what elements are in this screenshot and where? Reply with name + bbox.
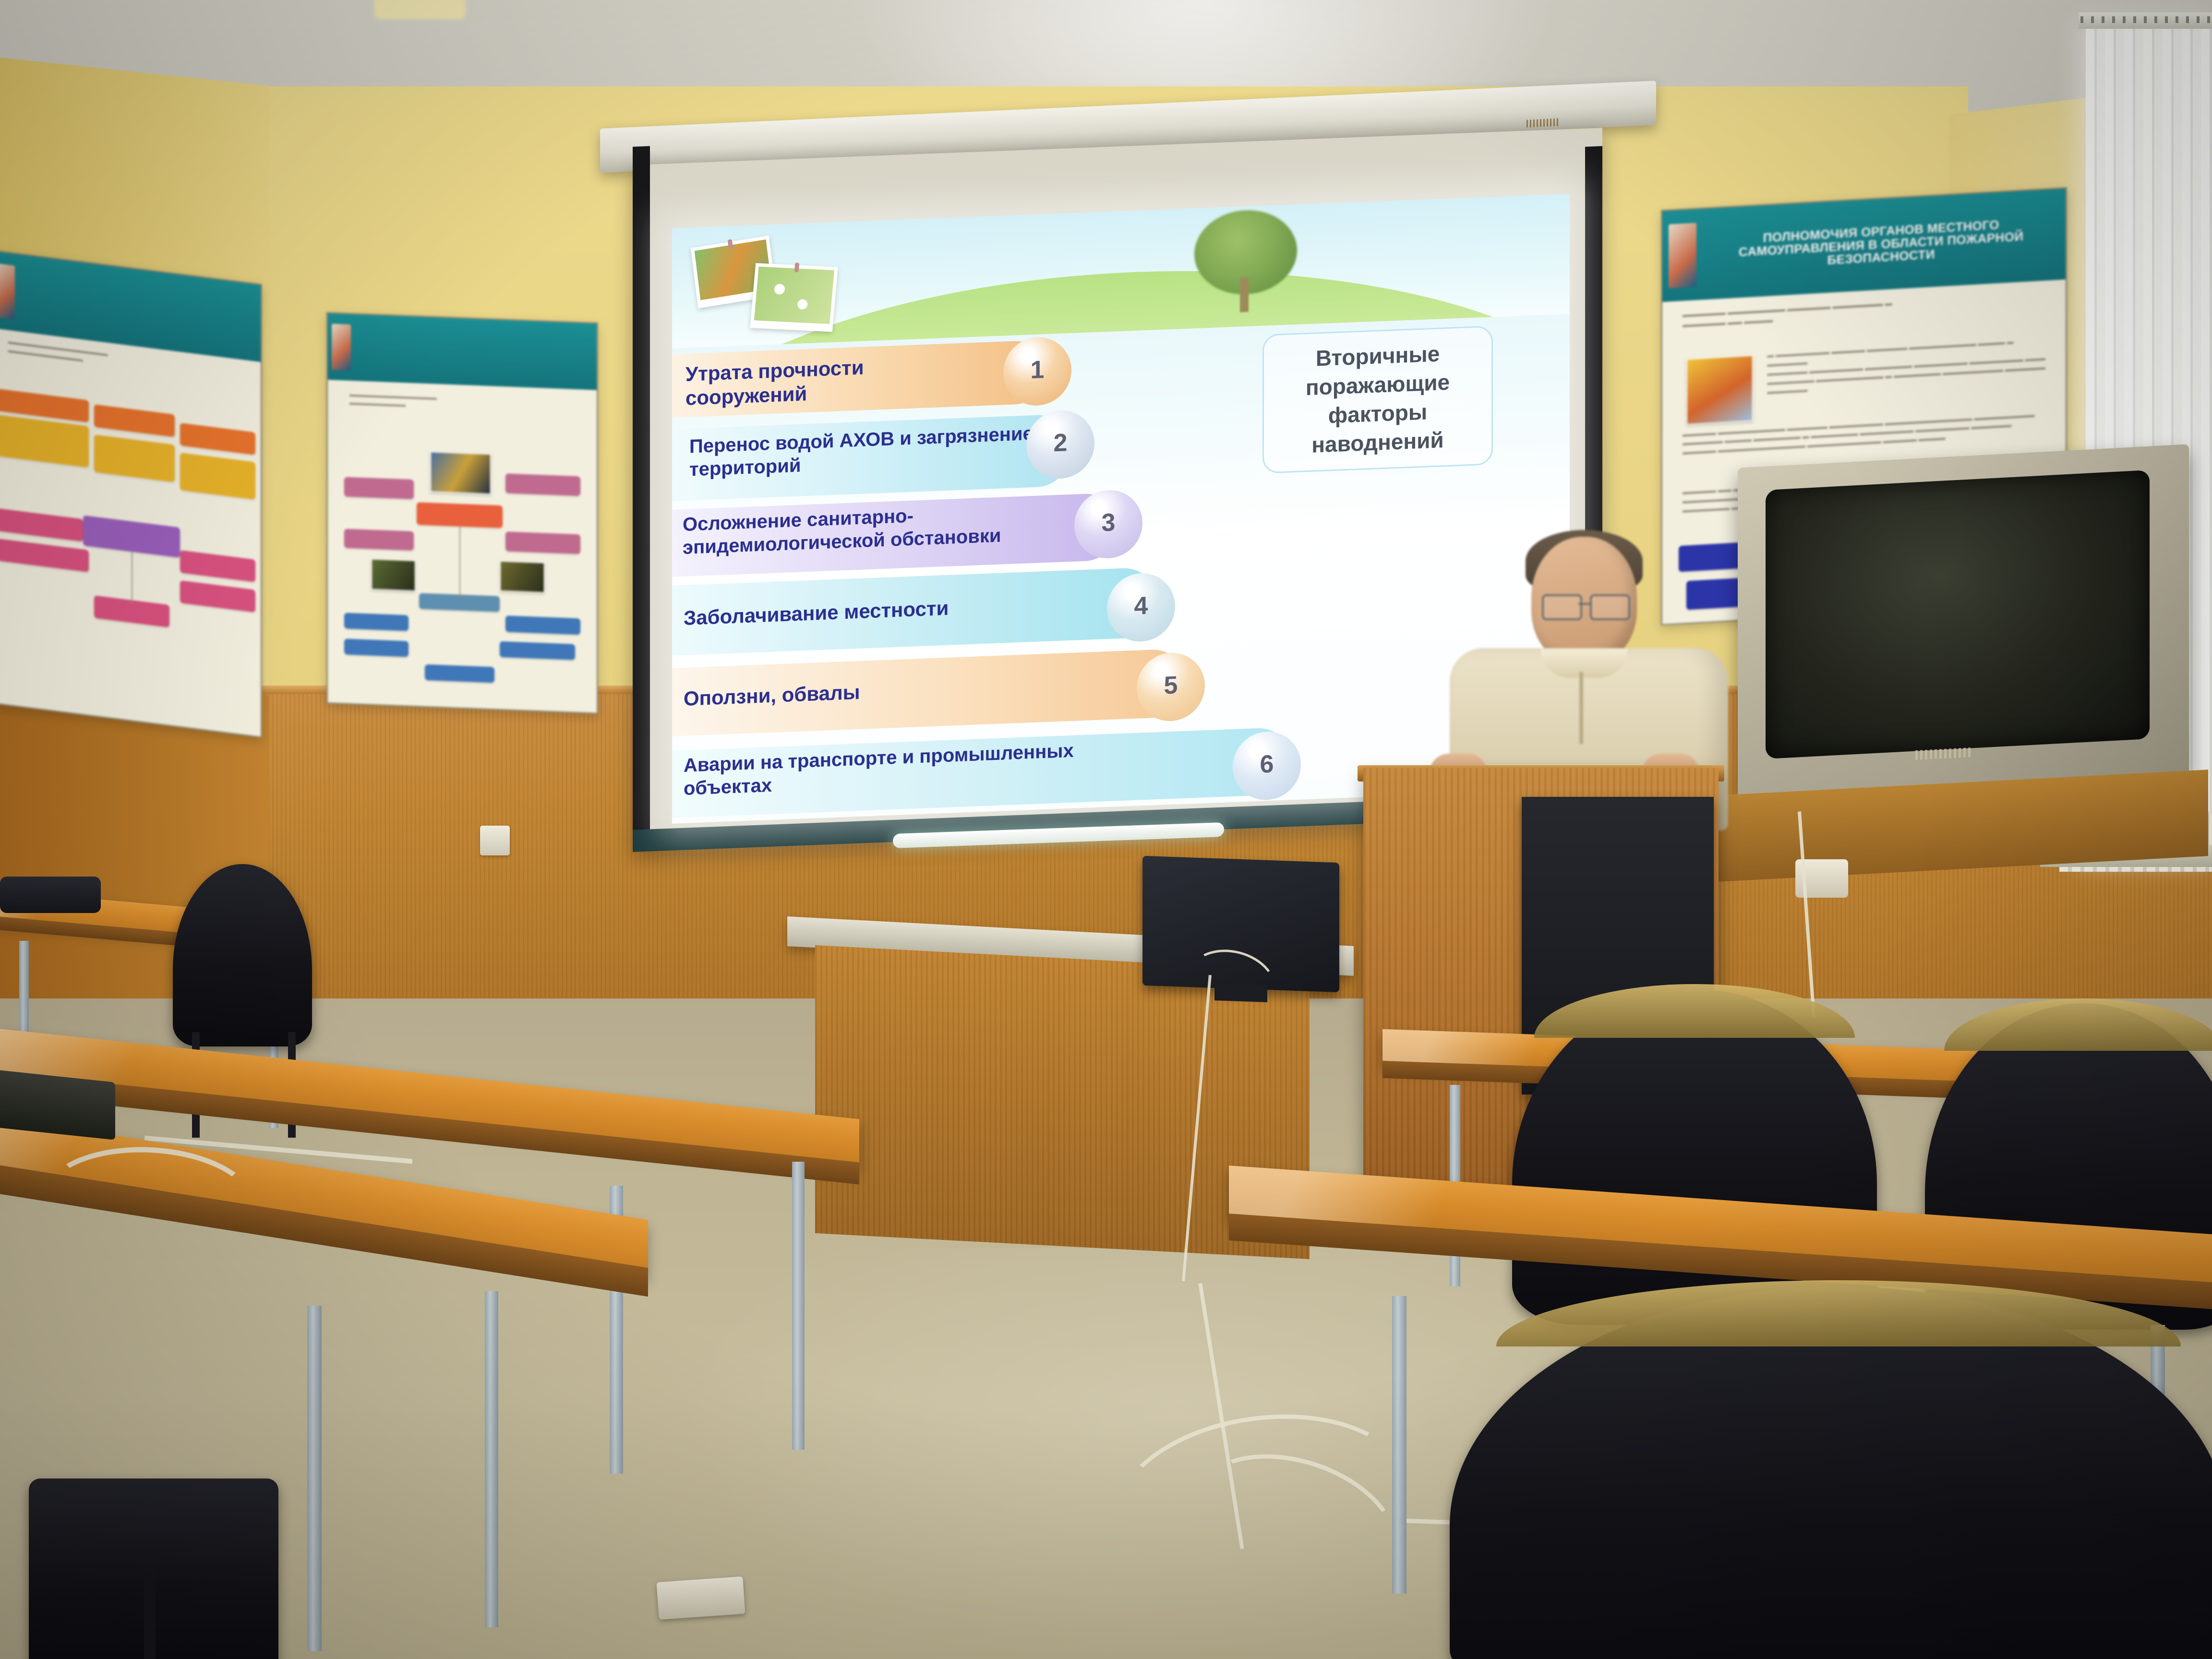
poster-left-box <box>180 550 255 582</box>
poster-mid-box <box>505 474 581 496</box>
desk-leg <box>1392 1296 1407 1594</box>
desk-leg <box>307 1306 322 1651</box>
poster-mid-box <box>425 664 495 683</box>
poster-mid-box <box>344 477 414 499</box>
poster-left-box <box>180 423 255 455</box>
poster-mid-banner <box>328 313 597 390</box>
chair[interactable] <box>1450 1286 2212 1659</box>
slide-number: 5 <box>1164 671 1178 700</box>
pushpin-icon <box>728 239 733 249</box>
desk-leg <box>792 1162 805 1450</box>
poster-right-photo <box>1686 355 1753 425</box>
poster-mid-title <box>351 348 597 357</box>
poster-mid-photo <box>430 451 491 494</box>
poster-right-paragraph: ▬ ▬▬▬▬▬▬▬▬ ▬▬▬▬▬ ▬▬▬▬▬▬ ▬▬▬▬▬▬▬▬▬▬ ▬▬▬▬ … <box>1767 335 2049 396</box>
poster-left-box <box>94 405 175 437</box>
blinds-rail-hooks <box>2080 16 2212 23</box>
poster-mid-box <box>417 503 503 529</box>
chair-gold-trim <box>1534 984 1855 1038</box>
wall-poster-middle: ▬▬▬▬▬▬▬▬▬▬▬▬▬▬▬▬▬▬▬▬▬▬▬ <box>326 312 598 714</box>
poster-mid-connector <box>459 527 460 598</box>
tree-icon <box>1190 208 1301 313</box>
chair-gold-trim <box>1944 998 2212 1051</box>
tv-screen <box>1766 470 2150 759</box>
classroom-photo: ▬▬▬▬▬▬▬▬▬▬▬▬▬▬▬▬▬▬▬▬▬▬▬▬▬▬▬▬ ▬▬▬▬▬▬▬▬▬▬▬… <box>0 0 2212 1659</box>
poster-right-title: ПОЛНОМОЧИЯ ОРГАНОВ МЕСТНОГО САМОУПРАВЛЕН… <box>1696 215 2066 275</box>
poster-mid-box <box>505 615 581 635</box>
wall-poster-left: ▬▬▬▬▬▬▬▬▬▬▬▬▬▬▬▬▬▬▬▬▬▬▬▬▬▬▬▬ <box>0 250 262 738</box>
photo-thumbnail <box>750 263 838 332</box>
screen-edge-left <box>633 146 650 833</box>
photo-thumbnail-image <box>754 266 834 324</box>
screen-housing-label <box>1527 118 1560 127</box>
eyeglasses-icon <box>1542 594 1582 620</box>
poster-right-emblem-icon <box>1669 223 1697 289</box>
slide-title-box: Вторичные поражающие факторы наводнений <box>1262 325 1493 473</box>
poster-left-box <box>0 538 89 572</box>
poster-left-connector <box>132 552 132 604</box>
slide-number: 2 <box>1054 428 1068 457</box>
eyeglasses-icon <box>1590 594 1630 620</box>
slide-number: 4 <box>1134 591 1148 621</box>
eyeglasses-bridge <box>1578 603 1590 605</box>
poster-left-box <box>0 508 83 541</box>
poster-left-box <box>180 453 255 500</box>
poster-left-box <box>0 415 89 468</box>
chair[interactable] <box>173 864 312 1046</box>
poster-mid-photo <box>500 561 545 593</box>
poster-mid-emblem-icon <box>332 324 350 371</box>
power-socket[interactable] <box>656 1576 745 1620</box>
poster-mid-box <box>505 532 581 554</box>
slide-number: 3 <box>1102 508 1116 537</box>
poster-mid-box <box>500 641 575 661</box>
presenter-zipper <box>1579 672 1583 744</box>
bag-on-desk <box>0 877 101 913</box>
poster-mid-box <box>344 613 409 631</box>
poster-left-box <box>94 434 175 482</box>
poster-mid-box <box>344 529 414 551</box>
ceiling-lamp <box>374 0 466 19</box>
poster-left-title <box>15 292 261 324</box>
poster-mid-box <box>344 638 409 657</box>
pushpin-icon <box>794 263 800 272</box>
poster-left-body: ▬▬▬▬▬▬▬▬▬▬▬▬▬▬▬▬▬▬▬▬▬▬▬▬▬▬▬▬ <box>0 328 261 736</box>
chair-leg <box>144 1565 156 1659</box>
slide-number: 6 <box>1260 750 1274 779</box>
poster-mid-intro: ▬▬▬▬▬▬▬▬▬▬▬▬▬▬▬▬▬▬▬▬▬▬▬ <box>349 390 575 416</box>
poster-left-box <box>180 580 255 613</box>
slide-number: 1 <box>1031 355 1045 385</box>
chair-back <box>173 864 312 1046</box>
tree-trunk <box>1240 277 1249 313</box>
desk-leg <box>485 1291 498 1627</box>
light-switch[interactable] <box>480 826 510 855</box>
chair-gold-trim <box>1496 1280 2181 1346</box>
poster-left-emblem-icon <box>0 263 15 319</box>
poster-mid-body: ▬▬▬▬▬▬▬▬▬▬▬▬▬▬▬▬▬▬▬▬▬▬▬ <box>328 380 597 713</box>
poster-mid-photo <box>371 559 416 591</box>
